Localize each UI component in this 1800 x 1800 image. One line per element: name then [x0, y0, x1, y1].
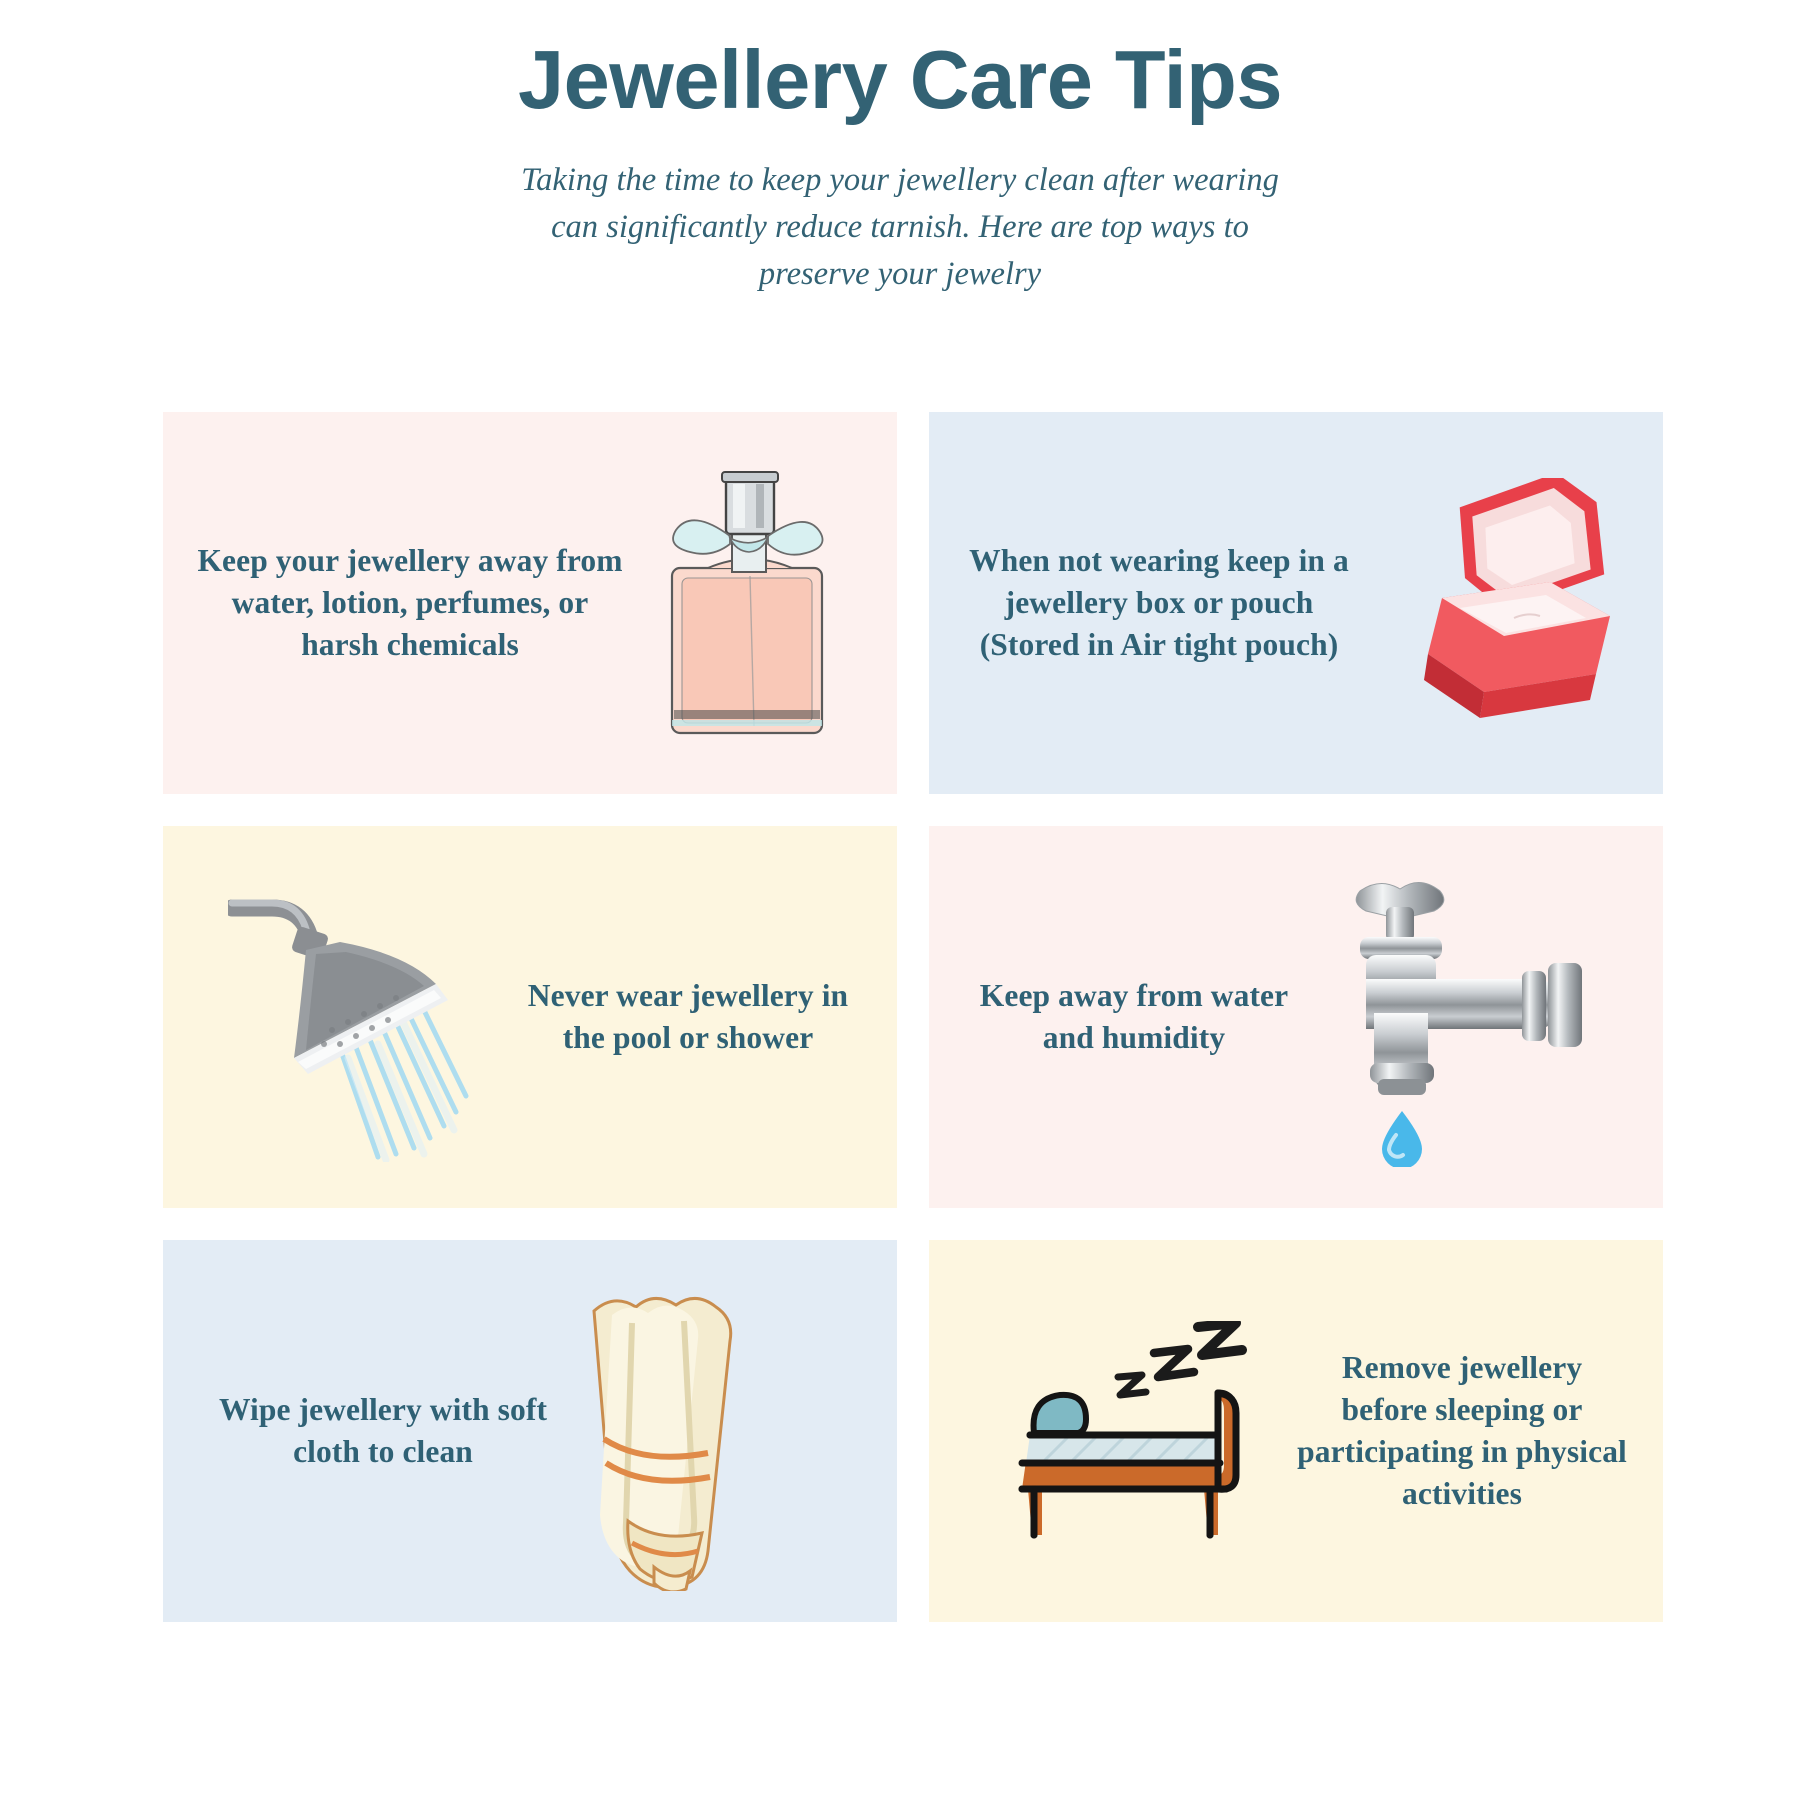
- header: Jewellery Care Tips Taking the time to k…: [0, 0, 1800, 298]
- shower-head-icon: [223, 872, 513, 1162]
- tip-card-avoid-chemicals[interactable]: Keep your jewellery away from water, lot…: [163, 412, 897, 794]
- tip-card-wipe-soft-cloth[interactable]: Wipe jewellery with soft cloth to clean: [163, 1240, 897, 1622]
- tip-card-no-pool-shower[interactable]: Never wear jewellery in the pool or show…: [163, 826, 897, 1208]
- tip-card-label: Never wear jewellery in the pool or show…: [513, 975, 863, 1059]
- tip-card-store-in-box[interactable]: When not wearing keep in a jewellery box…: [929, 412, 1663, 794]
- cloth-icon: [553, 1271, 803, 1591]
- tip-card-label: When not wearing keep in a jewellery box…: [959, 540, 1359, 666]
- tip-card-label: Keep your jewellery away from water, lot…: [195, 540, 625, 666]
- perfume-bottle-icon: [625, 458, 875, 748]
- page-subtitle: Taking the time to keep your jewellery c…: [500, 157, 1300, 298]
- tip-card-label: Keep away from water and humidity: [969, 975, 1299, 1059]
- tip-card-avoid-humidity[interactable]: Keep away from water and humidity: [929, 826, 1663, 1208]
- page-title: Jewellery Care Tips: [0, 38, 1800, 121]
- tips-grid: Keep your jewellery away from water, lot…: [163, 412, 1663, 1622]
- faucet-icon: [1299, 867, 1599, 1167]
- ring-box-icon: [1359, 478, 1639, 728]
- tip-card-label: Wipe jewellery with soft cloth to clean: [213, 1389, 553, 1473]
- tip-card-remove-before-sleep[interactable]: Remove jewellery before sleeping or part…: [929, 1240, 1663, 1622]
- bed-sleeping-icon: [1007, 1321, 1297, 1541]
- tip-card-label: Remove jewellery before sleeping or part…: [1297, 1347, 1627, 1515]
- infographic-page: Jewellery Care Tips Taking the time to k…: [0, 0, 1800, 1800]
